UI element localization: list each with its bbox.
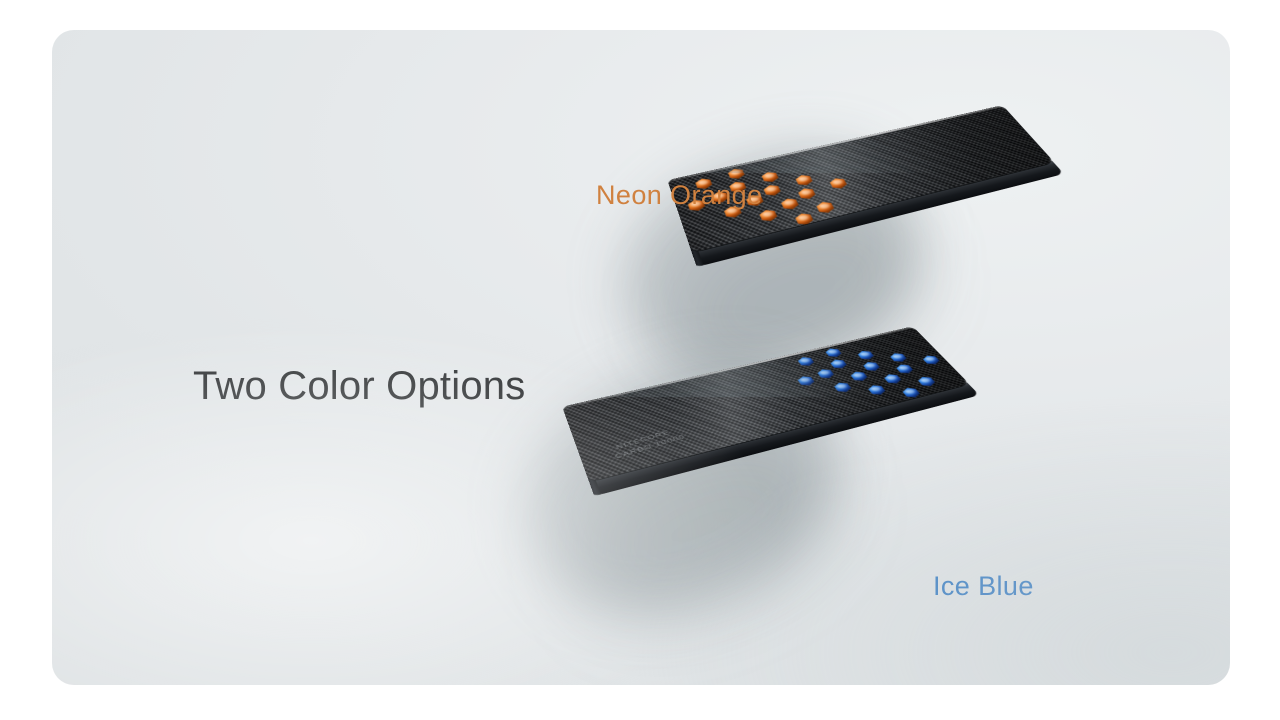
hex-bolt (881, 373, 904, 386)
hex-bolt (823, 347, 844, 359)
color-label-neon-orange: Neon Orange (596, 180, 763, 211)
content-panel: NITECORE CARBO 10000 Neon Orange Ice Blu… (52, 30, 1230, 685)
hex-bolt (815, 368, 837, 380)
product-ice-blue[interactable]: NITECORE CARBO 10000 (512, 295, 1012, 665)
page-title: Two Color Options (193, 364, 525, 409)
hex-bolt (920, 354, 942, 366)
hex-bolt (865, 384, 888, 397)
hex-bolt (855, 349, 877, 361)
hex-bolt (848, 370, 870, 383)
hex-bolt (795, 356, 816, 368)
hex-bolt (888, 352, 910, 364)
hex-bolt (832, 381, 854, 394)
hex-bolt (915, 375, 938, 388)
hex-bolt (894, 363, 916, 375)
color-label-ice-blue: Ice Blue (933, 571, 1034, 602)
hex-bolt (828, 358, 850, 370)
slide-canvas: NITECORE CARBO 10000 Neon Orange Ice Blu… (0, 0, 1280, 720)
hex-bolt (861, 360, 883, 372)
